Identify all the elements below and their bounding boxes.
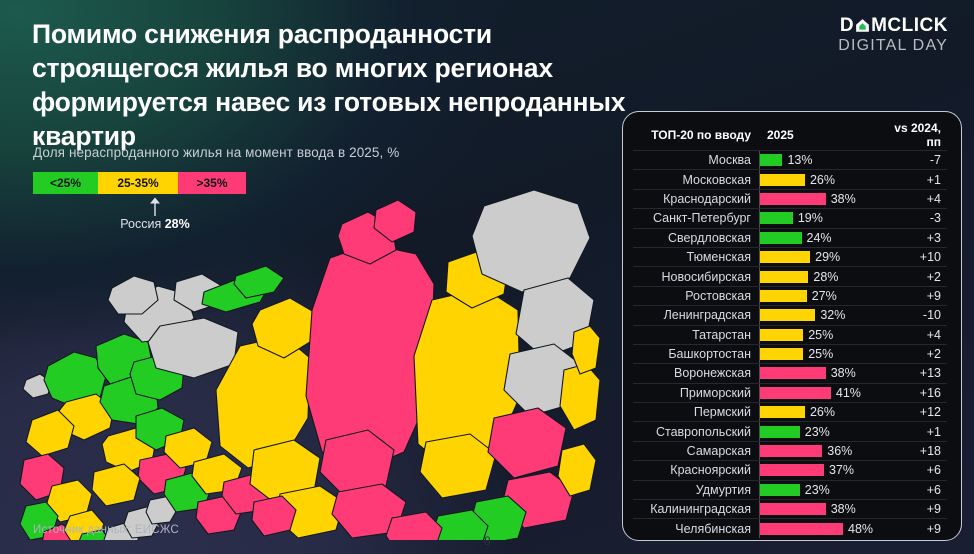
table-cell-delta: +1 (877, 173, 947, 187)
bar-value-label: 48% (848, 522, 873, 536)
table-cell-delta: -10 (877, 308, 947, 322)
table-row: Челябинская48%+9 (633, 518, 947, 537)
table-cell-delta: +6 (877, 483, 947, 497)
table-cell-region: Самарская (633, 444, 759, 458)
bar-fill (760, 309, 815, 321)
table-cell-region: Свердловская (633, 231, 759, 245)
table-row: Ростовская27%+9 (633, 286, 947, 305)
bar-value-label: 36% (827, 444, 852, 458)
table-cell-delta: +3 (877, 231, 947, 245)
table-header-delta: vs 2024, пп (877, 121, 947, 149)
table-row: Новосибирская28%+2 (633, 266, 947, 285)
bar-fill (760, 387, 831, 399)
top20-table-panel: ТОП-20 по вводу 2025 vs 2024, пп Москва1… (622, 111, 962, 541)
bar-value-label: 25% (808, 328, 833, 342)
bar-value-label: 38% (831, 366, 856, 380)
bar-fill (760, 154, 782, 166)
table-cell-delta: +10 (877, 250, 947, 264)
table-row: Тюменская29%+10 (633, 247, 947, 266)
bar-value-label: 41% (836, 386, 861, 400)
table-cell-bar: 38% (759, 500, 877, 518)
bar-fill (760, 232, 802, 244)
table-row: Свердловская24%+3 (633, 228, 947, 247)
bar-value-label: 37% (829, 463, 854, 477)
table-row: Москва13%-7 (633, 150, 947, 169)
table-cell-region: Тюменская (633, 250, 759, 264)
page-title: Помимо снижения распроданности строящего… (32, 18, 632, 154)
table-cell-region: Башкортостан (633, 347, 759, 361)
table-cell-bar: 26% (759, 403, 877, 421)
table-cell-bar: 23% (759, 422, 877, 440)
table-cell-bar: 13% (759, 151, 877, 169)
table-cell-bar: 28% (759, 267, 877, 285)
table-cell-delta: -3 (877, 211, 947, 225)
table-cell-bar: 36% (759, 442, 877, 460)
table-cell-region: Татарстан (633, 328, 759, 342)
logo-wordmark: D MCLICK (838, 16, 948, 35)
bar-fill (760, 174, 805, 186)
bar-fill (760, 212, 793, 224)
table-header-region: ТОП-20 по вводу (633, 128, 759, 142)
bar-fill (760, 348, 803, 360)
table-cell-delta: +4 (877, 192, 947, 206)
table-cell-region: Санкт-Петербург (633, 211, 759, 225)
bar-value-label: 26% (810, 173, 835, 187)
table-cell-region: Пермский (633, 405, 759, 419)
table-cell-bar: 25% (759, 345, 877, 363)
bar-value-label: 27% (812, 289, 837, 303)
table-header-row: ТОП-20 по вводу 2025 vs 2024, пп (633, 122, 947, 148)
table-cell-delta: +9 (877, 522, 947, 536)
slide: D MCLICK DIGITAL DAY Помимо снижения рас… (0, 0, 974, 554)
table-cell-bar: 26% (759, 170, 877, 188)
bar-value-label: 29% (815, 250, 840, 264)
table-cell-bar: 25% (759, 326, 877, 344)
bar-value-label: 26% (810, 405, 835, 419)
house-icon (855, 18, 870, 33)
table-row: Санкт-Петербург19%-3 (633, 208, 947, 227)
table-cell-delta: +9 (877, 502, 947, 516)
logo-subtitle: DIGITAL DAY (838, 38, 948, 54)
table-cell-region: Москва (633, 153, 759, 167)
bar-fill (760, 426, 800, 438)
table-cell-region: Краснодарский (633, 192, 759, 206)
bar-value-label: 25% (808, 347, 833, 361)
table-cell-bar: 29% (759, 248, 877, 266)
bar-value-label: 23% (805, 425, 830, 439)
logo-wordmark-left: D (840, 16, 854, 35)
bar-fill (760, 290, 807, 302)
table-cell-bar: 27% (759, 287, 877, 305)
table-row: Московская26%+1 (633, 169, 947, 188)
table-cell-delta: +18 (877, 444, 947, 458)
table-body: Москва13%-7Московская26%+1Краснодарский3… (633, 150, 947, 538)
table-cell-region: Челябинская (633, 522, 759, 536)
table-cell-region: Удмуртия (633, 483, 759, 497)
table-row: Самарская36%+18 (633, 441, 947, 460)
bar-fill (760, 329, 803, 341)
table-cell-bar: 48% (759, 519, 877, 537)
bar-fill (760, 503, 826, 515)
bar-value-label: 32% (820, 308, 845, 322)
bar-fill (760, 484, 800, 496)
table-cell-delta: +1 (877, 425, 947, 439)
table-cell-delta: +12 (877, 405, 947, 419)
table-row: Башкортостан25%+2 (633, 344, 947, 363)
table-cell-delta: -7 (877, 153, 947, 167)
table-cell-region: Ставропольский (633, 425, 759, 439)
bar-fill (760, 271, 808, 283)
table-row: Красноярский37%+6 (633, 460, 947, 479)
table-cell-delta: +2 (877, 347, 947, 361)
bar-value-label: 38% (831, 502, 856, 516)
table-cell-region: Калининградская (633, 502, 759, 516)
table-row: Ленинградская32%-10 (633, 305, 947, 324)
table-row: Приморский41%+16 (633, 383, 947, 402)
bar-value-label: 24% (807, 231, 832, 245)
table-header-year: 2025 (759, 128, 877, 142)
bar-value-label: 28% (813, 270, 838, 284)
table-cell-delta: +16 (877, 386, 947, 400)
map-svg (8, 150, 608, 540)
bar-fill (760, 406, 805, 418)
table-row: Ставропольский23%+1 (633, 421, 947, 440)
russia-choropleth-map (8, 150, 608, 540)
table-cell-delta: +6 (877, 463, 947, 477)
table-cell-delta: +13 (877, 366, 947, 380)
page-number: 8 (484, 534, 491, 548)
table-cell-bar: 41% (759, 384, 877, 402)
table-cell-bar: 38% (759, 190, 877, 208)
bar-value-label: 13% (787, 153, 812, 167)
bar-value-label: 38% (831, 192, 856, 206)
table-cell-bar: 37% (759, 461, 877, 479)
table-row: Пермский26%+12 (633, 402, 947, 421)
bar-value-label: 19% (798, 211, 823, 225)
table-cell-delta: +9 (877, 289, 947, 303)
table-cell-delta: +2 (877, 270, 947, 284)
bar-fill (760, 193, 826, 205)
table-cell-region: Московская (633, 173, 759, 187)
table-cell-bar: 24% (759, 229, 877, 247)
source-note: Источник данных: ЕИСЖС (33, 524, 179, 536)
bar-fill (760, 367, 826, 379)
domclick-logo: D MCLICK DIGITAL DAY (838, 16, 948, 54)
table-row: Калининградская38%+9 (633, 499, 947, 518)
bar-fill (760, 445, 822, 457)
table-cell-region: Новосибирская (633, 270, 759, 284)
table-cell-region: Приморский (633, 386, 759, 400)
table-cell-region: Ленинградская (633, 308, 759, 322)
table-cell-bar: 38% (759, 364, 877, 382)
bar-fill (760, 251, 810, 263)
table-cell-region: Ростовская (633, 289, 759, 303)
table-cell-bar: 32% (759, 306, 877, 324)
table-row: Краснодарский38%+4 (633, 189, 947, 208)
bar-fill (760, 464, 824, 476)
table-cell-region: Воронежская (633, 366, 759, 380)
table-row: Татарстан25%+4 (633, 325, 947, 344)
table-cell-bar: 23% (759, 481, 877, 499)
logo-wordmark-right: MCLICK (871, 16, 948, 35)
table-cell-region: Красноярский (633, 463, 759, 477)
table-row: Удмуртия23%+6 (633, 480, 947, 499)
bar-fill (760, 523, 843, 535)
table-row: Воронежская38%+13 (633, 363, 947, 382)
table-cell-bar: 19% (759, 209, 877, 227)
table-cell-delta: +4 (877, 328, 947, 342)
bar-value-label: 23% (805, 483, 830, 497)
